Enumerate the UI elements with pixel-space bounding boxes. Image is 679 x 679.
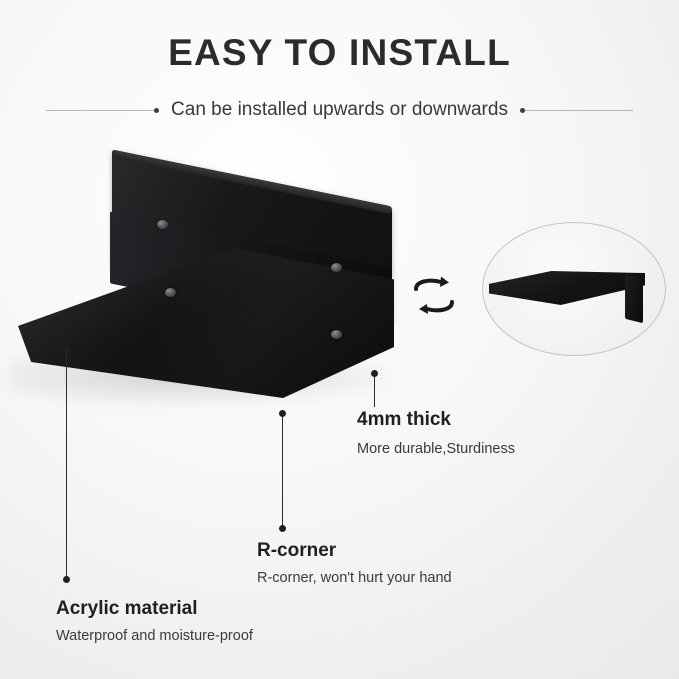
callout-desc-thickness: More durable,Sturdiness bbox=[357, 441, 515, 457]
callout-dot-r-corner bbox=[279, 410, 286, 417]
callout-line-r-corner bbox=[282, 417, 283, 527]
callout-line-thickness bbox=[374, 377, 375, 407]
product-main-view bbox=[0, 150, 430, 430]
inset-shelf-group bbox=[489, 271, 649, 323]
callout-dot-r-corner-end bbox=[279, 525, 286, 532]
callout-dot-thickness bbox=[371, 370, 378, 377]
subtitle-rule-right bbox=[525, 110, 633, 111]
product-infographic: EASY TO INSTALL Can be installed upwards… bbox=[0, 0, 679, 679]
page-title: EASY TO INSTALL bbox=[0, 32, 679, 74]
subtitle-row: Can be installed upwards or downwards bbox=[0, 97, 679, 123]
callout-title-material: Acrylic material bbox=[56, 598, 198, 620]
callout-desc-material: Waterproof and moisture-proof bbox=[56, 628, 253, 644]
rotate-arrows-icon bbox=[408, 275, 460, 317]
callout-desc-r-corner: R-corner, won't hurt your hand bbox=[257, 570, 452, 586]
subtitle-rule-left bbox=[46, 110, 154, 111]
screw-icon bbox=[331, 263, 342, 272]
inset-shelf-lip bbox=[625, 275, 643, 323]
screw-icon bbox=[331, 330, 342, 339]
inset-shelf-surface bbox=[489, 271, 645, 305]
product-inset-view bbox=[482, 222, 666, 356]
callout-dot-material-end bbox=[63, 576, 70, 583]
callout-title-r-corner: R-corner bbox=[257, 540, 336, 562]
page-subtitle: Can be installed upwards or downwards bbox=[159, 99, 520, 121]
callout-dot-material bbox=[63, 346, 70, 353]
screw-icon bbox=[157, 220, 168, 229]
callout-line-material bbox=[66, 353, 67, 578]
screw-icon bbox=[165, 288, 176, 297]
callout-title-thickness: 4mm thick bbox=[357, 409, 451, 431]
